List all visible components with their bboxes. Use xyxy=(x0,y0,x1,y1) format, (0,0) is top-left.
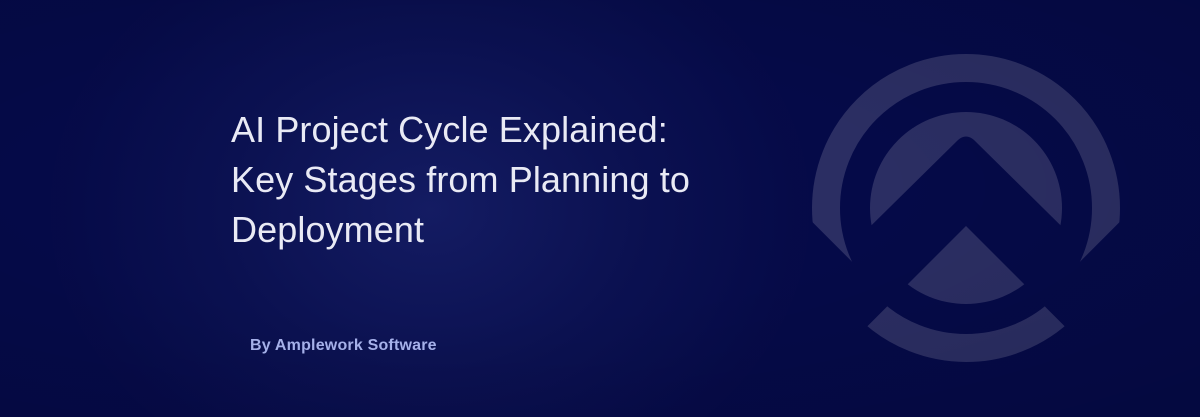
page-title: AI Project Cycle Explained: Key Stages f… xyxy=(231,105,771,255)
author-byline: By Amplework Software xyxy=(250,334,437,358)
amplework-logo-icon xyxy=(806,48,1126,368)
banner-content: AI Project Cycle Explained: Key Stages f… xyxy=(231,0,791,417)
article-hero-banner: AI Project Cycle Explained: Key Stages f… xyxy=(0,0,1200,417)
